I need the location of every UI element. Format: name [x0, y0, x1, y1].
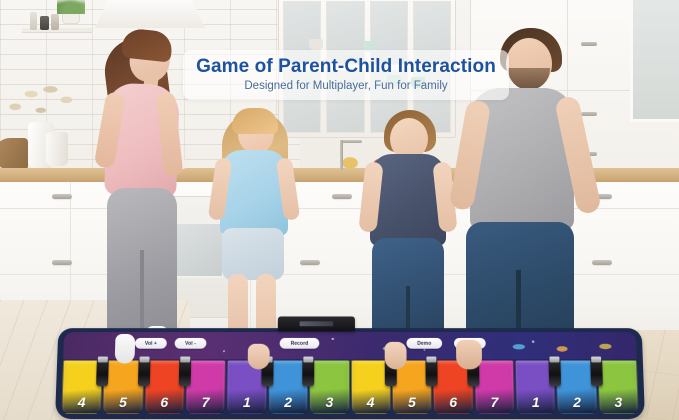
- girl-hair-top: [232, 108, 278, 134]
- piano-key-7[interactable]: 7: [185, 360, 226, 414]
- piano-key-label: 1: [532, 394, 540, 410]
- girl-foot-on-mat: [248, 344, 270, 370]
- piano-key-label: 3: [614, 394, 622, 410]
- piano-key-label: 6: [449, 394, 457, 410]
- volume-down-button[interactable]: Vol -: [175, 338, 207, 349]
- piano-key-label: 5: [119, 394, 127, 410]
- piano-key-5[interactable]: 5: [103, 360, 145, 414]
- record-button[interactable]: Record: [280, 338, 320, 349]
- piano-key-2[interactable]: 2: [268, 360, 309, 414]
- piano-key-6[interactable]: 6: [144, 360, 185, 414]
- cabinet-seam: [0, 274, 679, 275]
- volume-up-button[interactable]: Vol +: [135, 338, 167, 349]
- drawer-pull[interactable]: [52, 260, 72, 265]
- piano-key-label: 4: [367, 394, 375, 410]
- piano-key-7[interactable]: 7: [474, 360, 515, 414]
- window-pane-right: [630, 0, 679, 122]
- banner-title: Game of Parent-Child Interaction: [196, 57, 496, 76]
- piano-key-3[interactable]: 3: [309, 360, 349, 414]
- faucet: [340, 140, 343, 170]
- father-foot-on-mat: [456, 340, 482, 369]
- drawer-pull[interactable]: [300, 260, 320, 265]
- piano-key-label: 3: [325, 394, 333, 410]
- shelf-plant-leaves: [57, 0, 85, 14]
- piano-play-mat[interactable]: Vol + Vol - Record Demo Play 45671234567…: [55, 328, 645, 419]
- kettle: [46, 132, 68, 166]
- piano-key-label: 1: [243, 394, 251, 410]
- piano-key-1[interactable]: 1: [515, 360, 556, 414]
- cutting-board: [0, 138, 28, 170]
- piano-black-key[interactable]: [179, 361, 191, 387]
- drawer-pull[interactable]: [52, 194, 72, 199]
- piano-key-3[interactable]: 3: [597, 360, 639, 414]
- piano-key-label: 6: [160, 394, 168, 410]
- piano-black-key[interactable]: [138, 361, 151, 387]
- piano-key-label: 2: [573, 394, 581, 410]
- range-hood: [95, 0, 205, 28]
- piano-key-2[interactable]: 2: [556, 360, 598, 414]
- piano-black-key[interactable]: [96, 361, 109, 387]
- piano-key-label: 4: [78, 394, 86, 410]
- piano-key-4[interactable]: 4: [351, 360, 391, 414]
- piano-black-key[interactable]: [549, 361, 562, 387]
- piano-key-label: 7: [490, 394, 498, 410]
- shelf-jar-2: [40, 16, 49, 30]
- demo-button[interactable]: Demo: [406, 338, 442, 349]
- mat-control-box[interactable]: [278, 316, 355, 331]
- headline-banner: Game of Parent-Child Interaction Designe…: [183, 50, 509, 100]
- mother-foot-on-mat: [115, 334, 136, 363]
- girl-shorts: [222, 228, 284, 280]
- piano-key-label: 5: [408, 394, 416, 410]
- piano-key-label: 7: [202, 394, 210, 410]
- piano-black-key[interactable]: [426, 361, 438, 387]
- drawer-pull[interactable]: [592, 260, 612, 265]
- drawer-pull[interactable]: [332, 194, 352, 199]
- piano-black-key[interactable]: [590, 361, 603, 387]
- boy-foot-on-mat: [385, 342, 407, 370]
- cabinet-handle[interactable]: [581, 112, 597, 116]
- shelf-jar-3: [51, 14, 59, 30]
- banner-subtitle: Designed for Multiplayer, Fun for Family: [244, 81, 447, 93]
- piano-key-4[interactable]: 4: [61, 360, 103, 414]
- shelf-jar-1: [30, 12, 37, 30]
- piano-keys[interactable]: 45671234567123: [61, 360, 639, 414]
- cabinet-mug: [309, 39, 323, 50]
- piano-key-label: 2: [284, 394, 292, 410]
- cabinet-handle[interactable]: [581, 42, 597, 46]
- piano-black-key[interactable]: [302, 361, 314, 387]
- product-lifestyle-image: Game of Parent-Child Interaction Designe…: [0, 0, 679, 420]
- faucet-arm: [340, 140, 362, 143]
